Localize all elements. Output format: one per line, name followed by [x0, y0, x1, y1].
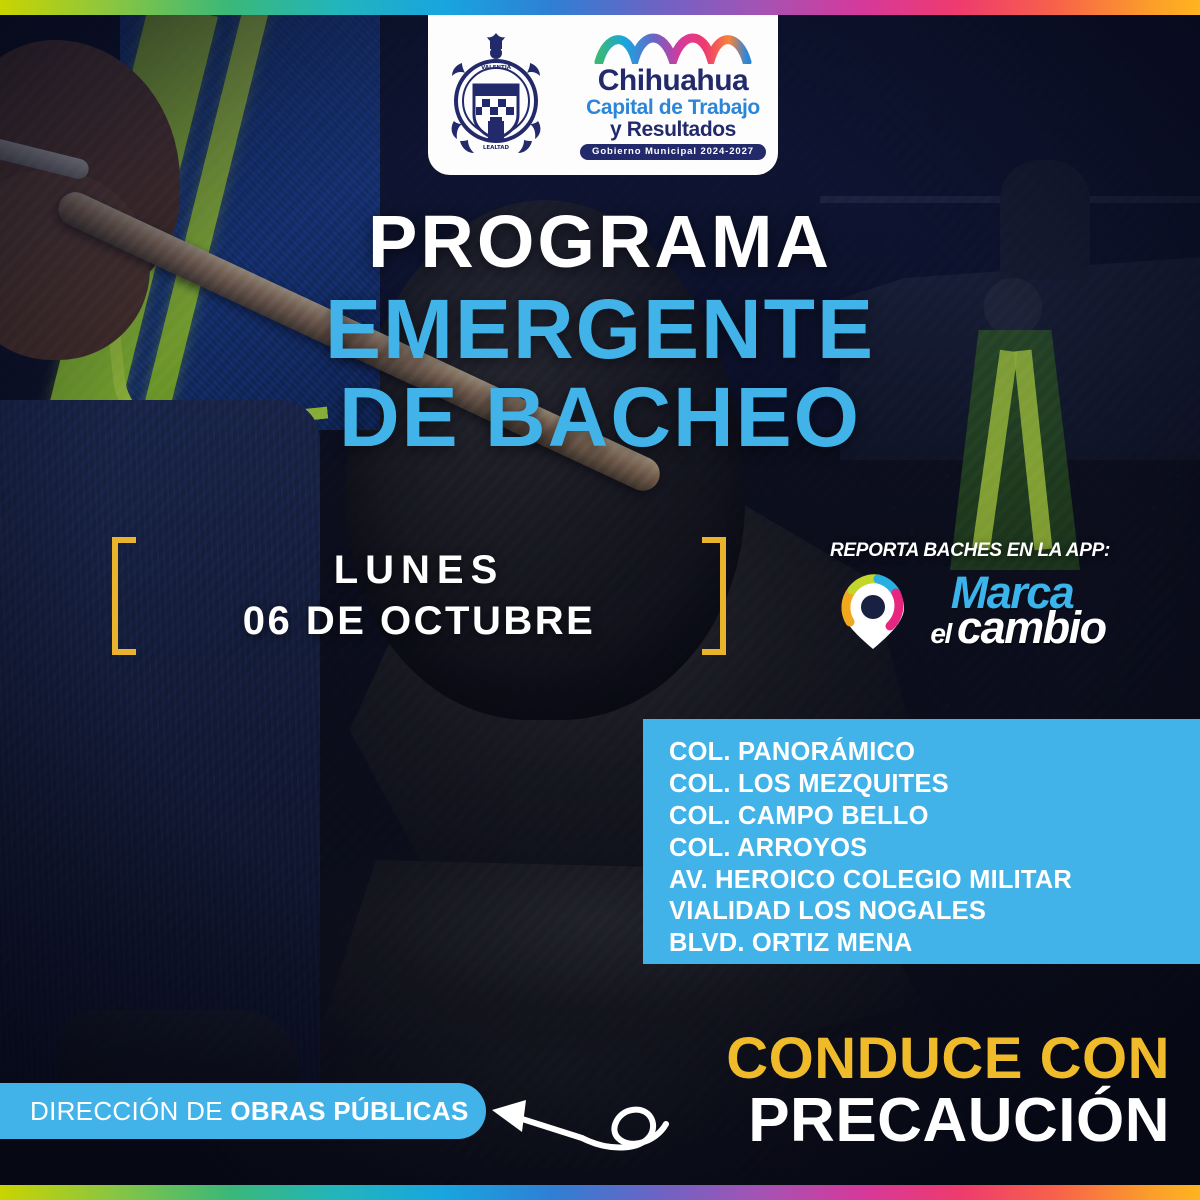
government-logo-card: VALENTIA LEALTAD: [428, 15, 778, 175]
street-list: COL. PANORÁMICO COL. LOS MEZQUITES COL. …: [643, 719, 1200, 964]
department-banner: DIRECCIÓN DE OBRAS PÚBLICAS: [0, 1083, 486, 1139]
banner-text: DIRECCIÓN DE OBRAS PÚBLICAS: [30, 1096, 469, 1127]
list-item: COL. CAMPO BELLO: [669, 801, 1200, 833]
svg-text:LEALTAD: LEALTAD: [483, 145, 510, 151]
banner-bold: OBRAS PÚBLICAS: [230, 1096, 468, 1126]
app-promo-label: REPORTA BACHES EN LA APP:: [800, 540, 1140, 562]
list-item: COL. ARROYOS: [669, 833, 1200, 865]
list-item: COL. LOS MEZQUITES: [669, 769, 1200, 801]
banner-prefix: DIRECCIÓN DE: [30, 1096, 230, 1126]
rainbow-bar-bottom: [0, 1185, 1200, 1200]
rainbow-bar-top: [0, 0, 1200, 15]
brand-line-3: y Resultados: [610, 119, 736, 140]
app-wordmark: Marca el cambio: [918, 572, 1105, 649]
date-block: LUNES 06 DE OCTUBRE: [112, 537, 726, 655]
caution-line-1: CONDUCE CON: [726, 1030, 1170, 1088]
app-promo-block: REPORTA BACHES EN LA APP: Marca el cambi…: [800, 540, 1140, 650]
app-name-el: el: [930, 618, 957, 649]
headline-block: PROGRAMA EMERGENTE DE BACHEO: [0, 205, 1200, 461]
curly-arrow-left-icon: [470, 1072, 680, 1172]
brand-tagline: Gobierno Municipal 2024-2027: [580, 144, 766, 160]
date-weekday: LUNES: [334, 548, 505, 593]
headline-line-2: EMERGENTE: [0, 285, 1200, 373]
headline-line-1: PROGRAMA: [0, 205, 1200, 279]
date-full: 06 DE OCTUBRE: [243, 599, 596, 644]
caution-block: CONDUCE CON PRECAUCIÓN: [726, 1030, 1170, 1152]
chihuahua-coat-of-arms-icon: VALENTIA LEALTAD: [440, 29, 552, 159]
list-item: VIALIDAD LOS NOGALES: [669, 896, 1200, 928]
brand-wordmark: Chihuahua Capital de Trabajo y Resultado…: [580, 28, 766, 160]
svg-text:VALENTIA: VALENTIA: [481, 65, 512, 71]
bracket-left-icon: [112, 537, 136, 655]
app-logo[interactable]: Marca el cambio: [800, 570, 1140, 650]
brand-line-1: Chihuahua: [598, 66, 749, 96]
list-item: COL. PANORÁMICO: [669, 737, 1200, 769]
headline-line-3: DE BACHEO: [0, 373, 1200, 461]
list-item: AV. HEROICO COLEGIO MILITAR: [669, 865, 1200, 897]
poster-canvas: VALENTIA LEALTAD: [0, 0, 1200, 1200]
bracket-right-icon: [702, 537, 726, 655]
list-item: BLVD. ORTIZ MENA: [669, 928, 1200, 960]
chihuahua-wave-icon: [593, 28, 753, 64]
brand-line-2: Capital de Trabajo: [586, 97, 760, 118]
location-pin-icon: [834, 570, 912, 650]
date-text: LUNES 06 DE OCTUBRE: [136, 537, 702, 655]
caution-line-2: PRECAUCIÓN: [726, 1090, 1170, 1152]
app-name-cambio: cambio: [957, 602, 1106, 653]
app-name-line-2: el cambio: [930, 607, 1105, 648]
